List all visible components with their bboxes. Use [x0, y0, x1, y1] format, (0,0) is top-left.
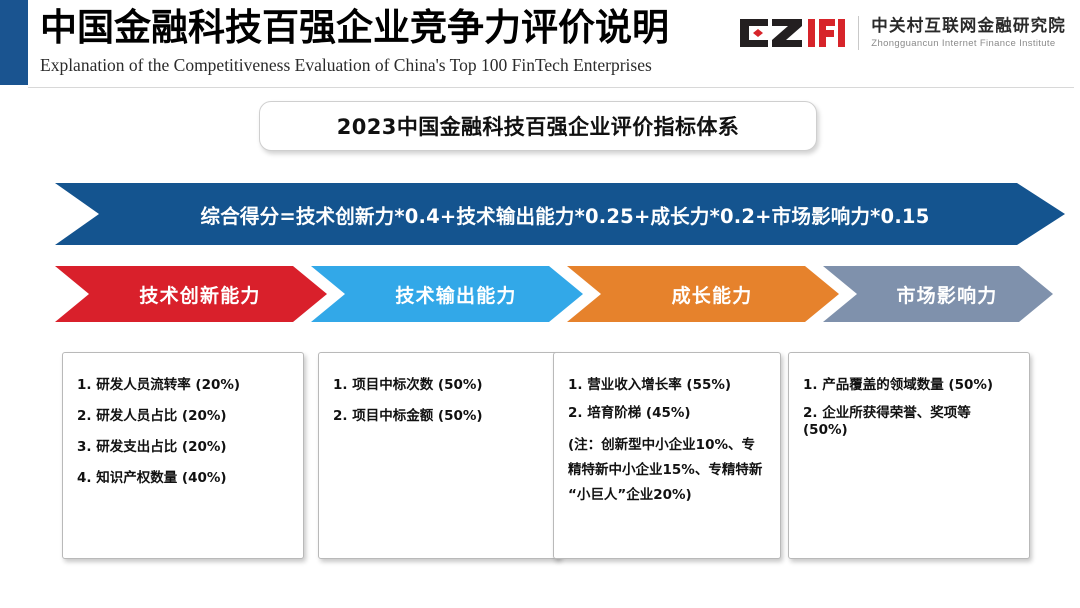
page-subtitle: Explanation of the Competitiveness Evalu… — [40, 54, 652, 76]
indicator-item: 2. 研发人员占比 (20%) — [77, 408, 291, 425]
score-formula-text: 综合得分=技术创新力*0.4+技术输出能力*0.25+成长力*0.2+市场影响力… — [201, 200, 930, 229]
pillar-label-3: 成长能力 — [672, 281, 753, 308]
institute-logo: 中关村互联网金融研究院 Zhongguancun Internet Financ… — [738, 10, 1066, 56]
indicator-item: 2. 项目中标金额 (50%) — [333, 408, 547, 425]
indicator-item: 4. 知识产权数量 (40%) — [77, 470, 291, 487]
logo-name-cn: 中关村互联网金融研究院 — [871, 16, 1066, 36]
indicator-card-growth: 1. 营业收入增长率 (55%) 2. 培育阶梯 (45%) (注：创新型中小企… — [553, 352, 781, 559]
indicator-item: 2. 培育阶梯 (45%) — [568, 405, 768, 422]
pillar-label-2: 技术输出能力 — [395, 281, 516, 308]
score-formula-banner: 综合得分=技术创新力*0.4+技术输出能力*0.25+成长力*0.2+市场影响力… — [55, 183, 1065, 245]
indicator-item: 1. 项目中标次数 (50%) — [333, 377, 547, 394]
indicator-item: 2. 企业所获得荣誉、奖项等 (50%) — [803, 405, 1017, 439]
header-divider — [28, 87, 1074, 88]
pillar-label-1: 技术创新能力 — [139, 281, 260, 308]
indicator-card-row: 1. 研发人员流转率 (20%) 2. 研发人员占比 (20%) 3. 研发支出… — [0, 352, 1080, 562]
logo-name-en: Zhongguancun Internet Finance Institute — [871, 37, 1066, 50]
header-accent-bar — [0, 0, 28, 85]
logo-divider — [858, 16, 859, 50]
indicator-item: 3. 研发支出占比 (20%) — [77, 439, 291, 456]
page-title: 中国金融科技百强企业竞争力评价说明 — [40, 4, 669, 50]
diagram-title-box: 2023中国金融科技百强企业评价指标体系 — [259, 101, 817, 151]
pillar-chevron-technology-innovation: 技术创新能力 — [55, 266, 327, 322]
czifi-wordmark-icon — [738, 16, 846, 50]
indicator-item: 1. 研发人员流转率 (20%) — [77, 377, 291, 394]
indicator-note: (注：创新型中小企业10%、专精特新中小企业15%、专精特新“小巨人”企业20%… — [568, 433, 768, 508]
pillar-chevron-growth: 成长能力 — [567, 266, 839, 322]
logo-text: 中关村互联网金融研究院 Zhongguancun Internet Financ… — [871, 16, 1066, 50]
indicator-card-technology-innovation: 1. 研发人员流转率 (20%) 2. 研发人员占比 (20%) 3. 研发支出… — [62, 352, 304, 559]
slide-header: 中国金融科技百强企业竞争力评价说明 Explanation of the Com… — [0, 0, 1080, 88]
pillar-label-4: 市场影响力 — [896, 281, 997, 308]
pillar-chevron-technology-output: 技术输出能力 — [311, 266, 583, 322]
pillar-chevron-market-influence: 市场影响力 — [823, 266, 1053, 322]
indicator-item: 1. 营业收入增长率 (55%) — [568, 377, 768, 394]
indicator-item: 1. 产品覆盖的领域数量 (50%) — [803, 377, 1017, 394]
pillar-chevron-row: 技术创新能力 技术输出能力 成长能力 市场影响力 — [0, 266, 1080, 322]
slide-root: 中国金融科技百强企业竞争力评价说明 Explanation of the Com… — [0, 0, 1080, 608]
indicator-card-market-influence: 1. 产品覆盖的领域数量 (50%) 2. 企业所获得荣誉、奖项等 (50%) — [788, 352, 1030, 559]
diagram-title-text: 2023中国金融科技百强企业评价指标体系 — [337, 111, 739, 141]
indicator-card-technology-output: 1. 项目中标次数 (50%) 2. 项目中标金额 (50%) — [318, 352, 560, 559]
